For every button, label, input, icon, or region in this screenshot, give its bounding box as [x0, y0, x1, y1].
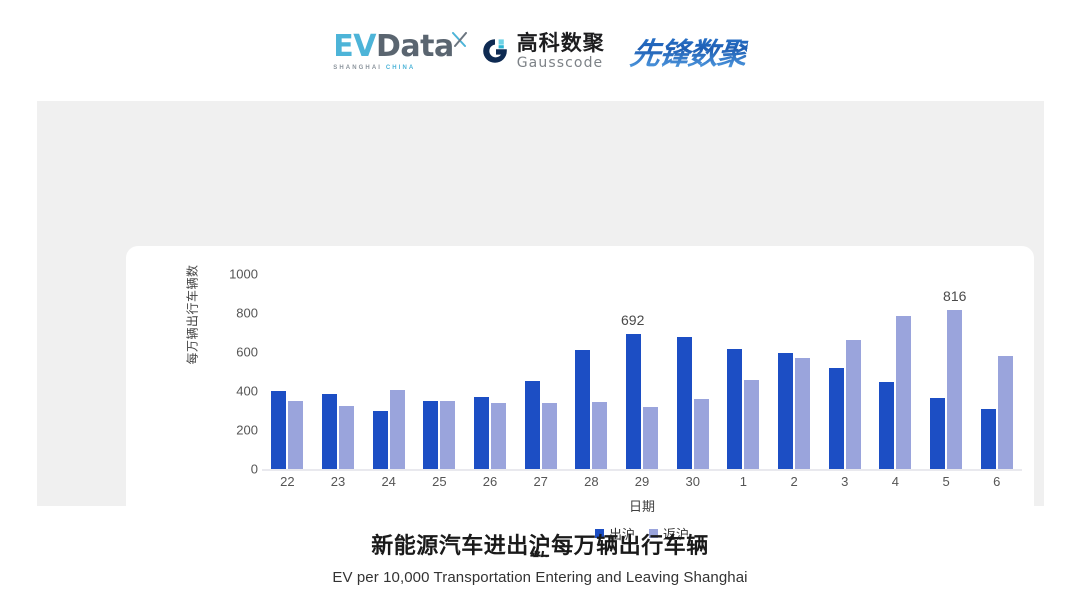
g-circle-icon [480, 36, 510, 66]
bar-out[interactable] [981, 409, 996, 469]
bar-group [971, 274, 1022, 469]
x-axis-tick: 24 [363, 474, 414, 496]
page-subtitle: EV per 10,000 Transportation Entering an… [0, 569, 1080, 586]
bar-back[interactable] [288, 401, 303, 469]
x-axis-tick: 30 [667, 474, 718, 496]
bar-group [515, 274, 566, 469]
x-axis-tick: 29 [617, 474, 668, 496]
bar-out[interactable] [474, 397, 489, 469]
bar-group [718, 274, 769, 469]
y-axis-title: 每万辆出行车辆数 [184, 245, 201, 385]
gausscode-logo: 高科数聚 Gausscode [480, 33, 605, 70]
gausscode-text-cn: 高科数聚 [517, 33, 605, 54]
evdata-word-primary: EV [333, 29, 376, 64]
x-axis-tick: 22 [262, 474, 313, 496]
bar-group: 692 [617, 274, 668, 469]
x-axis-tick: 6 [971, 474, 1022, 496]
page-title-text: 新能源汽车进出沪每万辆出行车辆 [371, 533, 709, 558]
bar-group [769, 274, 820, 469]
bar-back[interactable] [846, 340, 861, 469]
bar-group [465, 274, 516, 469]
x-axis-tick: 1 [718, 474, 769, 496]
bar-value-label: 816 [943, 288, 966, 304]
bar-group [313, 274, 364, 469]
bar-back[interactable] [339, 406, 354, 469]
y-axis-tick: 1000 [229, 267, 258, 282]
bar-group [262, 274, 313, 469]
x-mark-icon [452, 24, 468, 40]
bar-group [363, 274, 414, 469]
bar-group [667, 274, 718, 469]
logo-bar: EVData SHANGHAI CHINA 高科数聚 Gausscode [0, 22, 1080, 80]
page-title: 新能源汽车进出沪每万辆出行车辆 数 [0, 528, 1080, 560]
bar-out[interactable] [626, 334, 641, 469]
x-axis-tick: 5 [921, 474, 972, 496]
bar-back[interactable] [491, 403, 506, 469]
bar-back[interactable] [542, 403, 557, 469]
bar-out[interactable] [677, 337, 692, 469]
bar-back[interactable] [390, 390, 405, 469]
x-axis-tick: 2 [769, 474, 820, 496]
bar-group [819, 274, 870, 469]
bar-back[interactable] [643, 407, 658, 469]
y-axis-tick: 0 [251, 462, 258, 477]
bar-groups: 692816 [262, 274, 1022, 469]
bar-out[interactable] [879, 382, 894, 469]
x-axis-tick: 3 [819, 474, 870, 496]
bar-back[interactable] [592, 402, 607, 469]
x-axis-tick: 4 [870, 474, 921, 496]
y-axis-tick: 200 [236, 423, 258, 438]
bar-group [870, 274, 921, 469]
bar-back[interactable] [896, 316, 911, 469]
evdata-sub-left: SHANGHAI [333, 65, 382, 71]
bar-out[interactable] [423, 401, 438, 469]
bar-value-label: 692 [621, 312, 644, 328]
evdata-word-secondary: Data [376, 29, 454, 64]
y-axis-ticks: 02004006008001000 [214, 274, 258, 469]
xianfeng-logo: 先锋数聚 [628, 29, 750, 73]
bar-out[interactable] [373, 411, 388, 469]
chart-panel: 每万辆出行车辆数 02004006008001000 692816 222324… [37, 101, 1044, 506]
bar-out[interactable] [271, 391, 286, 469]
x-axis-tick: 27 [515, 474, 566, 496]
bar-out[interactable] [778, 353, 793, 469]
bar-out[interactable] [930, 398, 945, 469]
gausscode-text-en: Gausscode [517, 56, 605, 70]
bar-back[interactable] [694, 399, 709, 469]
x-axis-line [262, 469, 1022, 471]
evdata-logo: EVData SHANGHAI CHINA [333, 32, 453, 71]
x-axis-tick: 25 [414, 474, 465, 496]
evdata-sub-right: CHINA [386, 65, 416, 71]
bar-out[interactable] [575, 350, 590, 469]
x-axis-tick: 28 [566, 474, 617, 496]
bar-back[interactable] [440, 401, 455, 469]
y-axis-tick: 600 [236, 345, 258, 360]
bar-group [414, 274, 465, 469]
bar-out[interactable] [525, 381, 540, 469]
x-axis-tick: 23 [313, 474, 364, 496]
bar-chart: 每万辆出行车辆数 02004006008001000 692816 222324… [126, 246, 1034, 569]
bar-group: 816 [921, 274, 972, 469]
y-axis-tick: 800 [236, 306, 258, 321]
bar-back[interactable] [998, 356, 1013, 469]
bar-group [566, 274, 617, 469]
bar-out[interactable] [727, 349, 742, 469]
bar-out[interactable] [829, 368, 844, 469]
chart-card: 每万辆出行车辆数 02004006008001000 692816 222324… [126, 246, 1034, 569]
x-axis-tick: 26 [465, 474, 516, 496]
bar-out[interactable] [322, 394, 337, 469]
evdata-wordmark: EVData [333, 32, 453, 62]
gausscode-text: 高科数聚 Gausscode [517, 33, 605, 70]
bar-back[interactable] [795, 358, 810, 469]
bar-back[interactable] [947, 310, 962, 469]
x-axis-ticks: 222324252627282930123456 [262, 474, 1022, 496]
bar-back[interactable] [744, 380, 759, 469]
evdata-subtitle: SHANGHAI CHINA [333, 65, 415, 71]
footer: 新能源汽车进出沪每万辆出行车辆 数 EV per 10,000 Transpor… [0, 528, 1080, 586]
x-axis-title: 日期 [262, 496, 1022, 515]
y-axis-tick: 400 [236, 384, 258, 399]
